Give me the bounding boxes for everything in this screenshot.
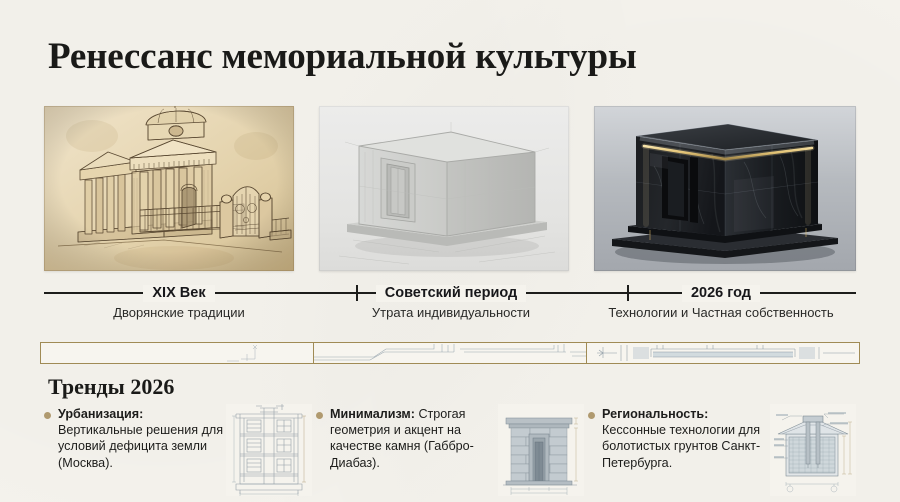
trend-item-minimalism: Минимализм: Строгая геометрия и акцент н… <box>316 406 588 498</box>
trend-title: Региональность: <box>602 407 708 421</box>
figure-caisson-foundation-section <box>770 404 856 496</box>
timeline-label: Советский период <box>376 285 526 302</box>
timeline-caption: Технологии и Частная собственность <box>586 305 856 321</box>
trends-heading: Тренды 2026 <box>48 374 174 400</box>
timeline-caption: Дворянские традиции <box>44 305 314 321</box>
timeline-entry-19th-century: XIX Век Дворянские традиции <box>44 284 314 321</box>
bullet-icon <box>316 412 323 419</box>
blueprint-strip <box>40 342 860 364</box>
image-19th-century-mausoleum <box>44 106 294 271</box>
figure-stone-facade-elevation <box>498 404 584 496</box>
image-soviet-period-mausoleum <box>319 106 569 271</box>
infographic-page: Ренессанс мемориальной культуры <box>0 0 900 502</box>
trend-text: Минимализм: Строгая геометрия и акцент н… <box>330 406 500 471</box>
figure-multilevel-columbarium-section <box>226 404 312 496</box>
timeline-entry-2026: 2026 год Технологии и Частная собственно… <box>586 284 856 321</box>
blueprint-strip-segment <box>41 343 313 363</box>
page-title: Ренессанс мемориальной культуры <box>48 38 637 77</box>
trend-title: Урбанизация: <box>58 407 143 421</box>
trend-title: Минимализм: <box>330 407 415 421</box>
timeline-entry-soviet: Советский период Утрата индивидуальности <box>316 284 586 321</box>
bullet-icon <box>588 412 595 419</box>
blueprint-strip-segment <box>313 343 586 363</box>
trend-body: Кессонные технологии для болотистых грун… <box>602 423 760 469</box>
timeline-label: 2026 год <box>682 285 760 302</box>
trend-text: Региональность: Кессонные технологии для… <box>602 406 772 471</box>
blueprint-strip-segment <box>586 343 859 363</box>
trend-item-urbanization: Урбанизация: Вертикальные решения для ус… <box>44 406 316 498</box>
bullet-icon <box>44 412 51 419</box>
trend-text: Урбанизация: Вертикальные решения для ус… <box>58 406 228 471</box>
hero-image-row <box>44 106 856 271</box>
timeline-label: XIX Век <box>143 285 214 302</box>
timeline-caption: Утрата индивидуальности <box>316 305 586 321</box>
timeline: XIX Век Дворянские традиции Советский пе… <box>44 284 856 326</box>
image-2026-mausoleum <box>594 106 856 271</box>
trend-item-regionality: Региональность: Кессонные технологии для… <box>588 406 860 498</box>
trend-body: Вертикальные решения для условий дефицит… <box>58 423 223 469</box>
trends-row: Урбанизация: Вертикальные решения для ус… <box>44 406 860 498</box>
